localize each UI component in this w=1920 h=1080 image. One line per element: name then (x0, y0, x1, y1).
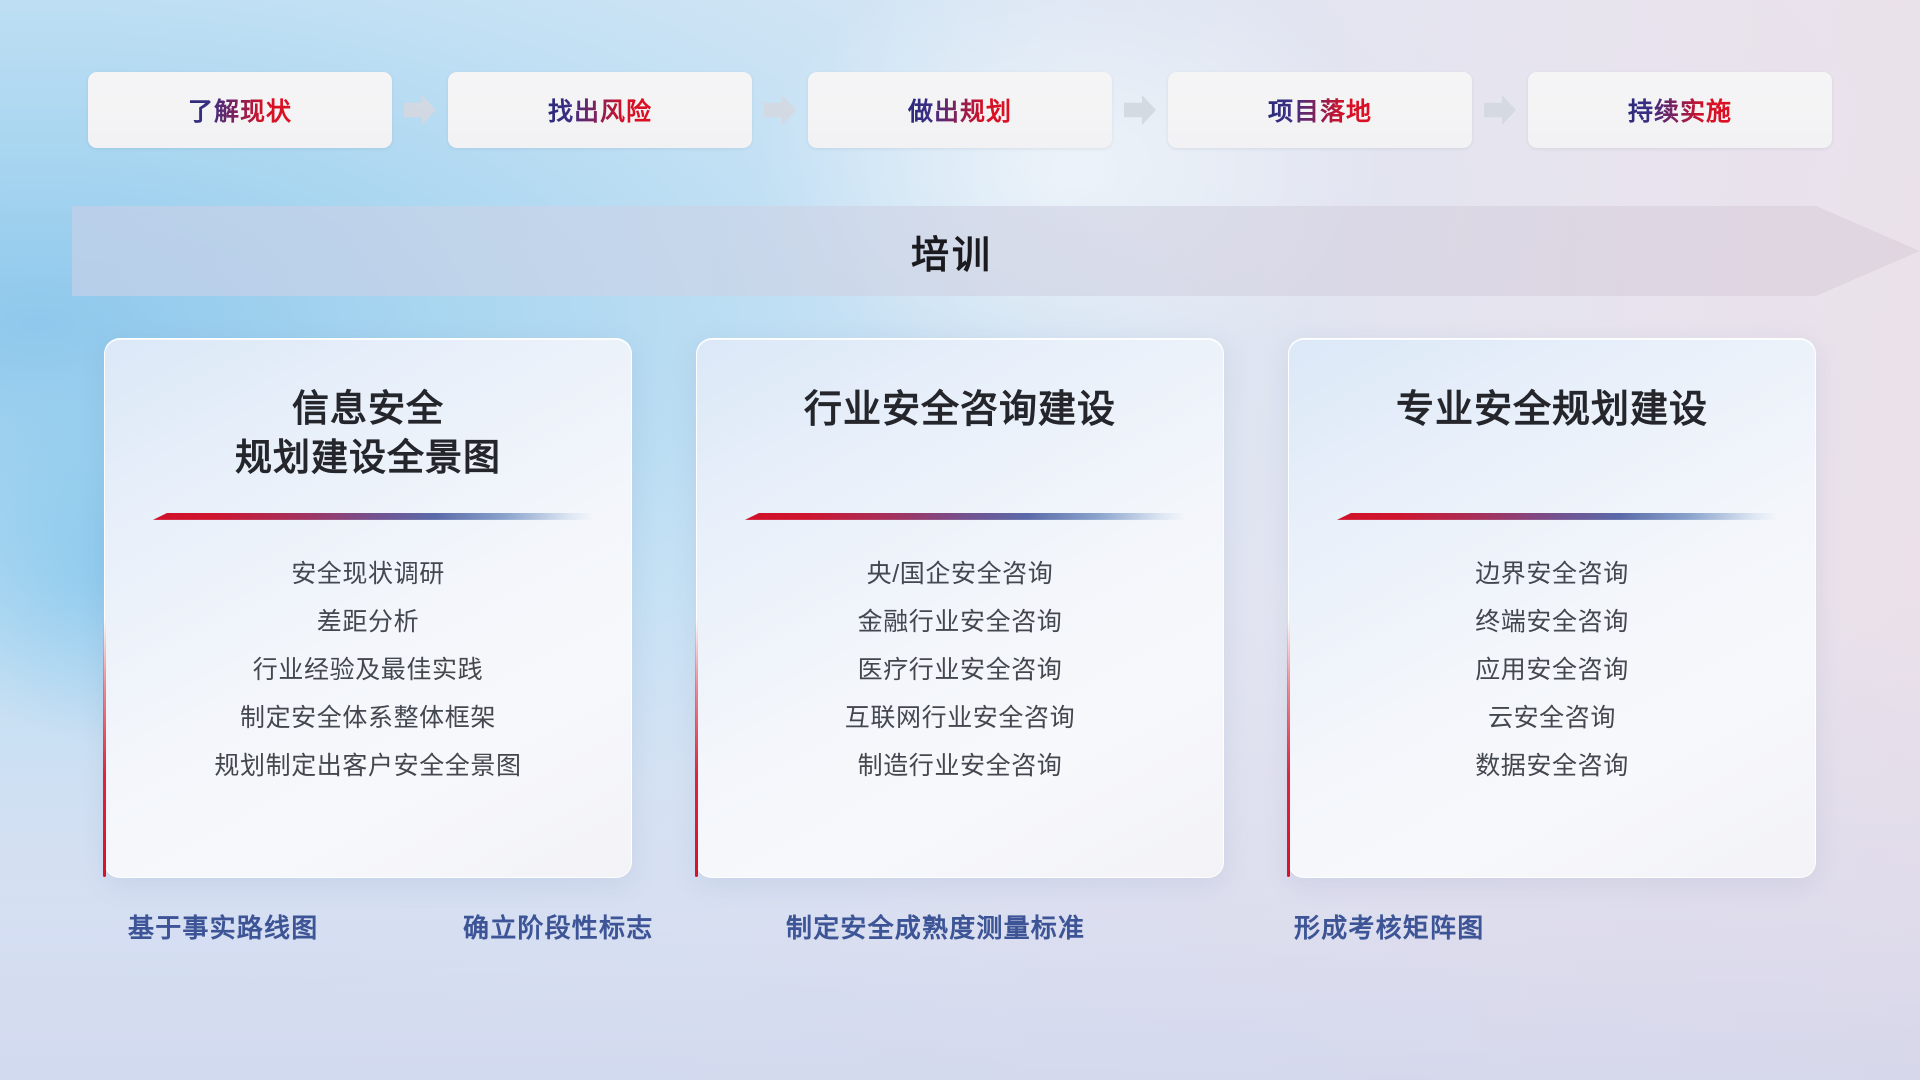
process-step-5-label: 持续实施 (1628, 92, 1732, 128)
capability-card-2[interactable]: 行业安全咨询建设 央/国企安全咨询 金融行业安全咨询 医疗行业安全咨询 互联网行… (696, 338, 1224, 878)
process-step-3-label: 做出规划 (908, 92, 1012, 128)
card-red-accent-edge (695, 619, 698, 877)
capability-card-3[interactable]: 专业安全规划建设 边界安全咨询 终端安全咨询 应用安全咨询 云安全咨询 数据安全… (1288, 338, 1816, 878)
process-step-3[interactable]: 做出规划 (808, 72, 1112, 148)
chevron-right-icon (1484, 95, 1516, 125)
card-gradient-divider (1337, 513, 1777, 524)
outcome-label-row: 基于事实路线图 确立阶段性标志 制定安全成熟度测量标准 形成考核矩阵图 (0, 908, 1920, 966)
list-item: 互联网行业安全咨询 (845, 701, 1075, 736)
process-step-1[interactable]: 了解现状 (88, 72, 392, 148)
card-title-line: 行业安全咨询建设 (723, 385, 1197, 435)
card-title-line: 信息安全 (131, 385, 605, 434)
training-arrow-band: 培训 (72, 206, 1920, 296)
capability-card-3-list: 边界安全咨询 终端安全咨询 应用安全咨询 云安全咨询 数据安全咨询 (1315, 557, 1789, 784)
outcome-label-1: 基于事实路线图 (128, 908, 318, 945)
capability-card-row: 信息安全 规划建设全景图 安全现状调研 差距分析 行业经验及最佳实践 制定安全体… (0, 338, 1920, 878)
list-item: 规划制定出客户安全全景图 (214, 749, 521, 784)
list-item: 云安全咨询 (1488, 701, 1616, 736)
process-arrow-3-wrap (1112, 72, 1168, 148)
process-step-2-label: 找出风险 (548, 92, 652, 128)
list-item: 行业经验及最佳实践 (253, 653, 483, 688)
process-arrow-2-wrap (752, 72, 808, 148)
card-divider-wrap (723, 501, 1197, 535)
chevron-right-icon (1124, 95, 1156, 125)
outcome-label-4: 形成考核矩阵图 (1294, 908, 1484, 945)
card-title-line: 专业安全规划建设 (1315, 385, 1789, 435)
training-band-label: 培训 (72, 206, 1832, 296)
list-item: 差距分析 (317, 605, 419, 640)
list-item: 央/国企安全咨询 (867, 557, 1054, 592)
process-step-5[interactable]: 持续实施 (1528, 72, 1832, 148)
chevron-right-icon (764, 95, 796, 125)
list-item: 边界安全咨询 (1475, 557, 1629, 592)
chevron-right-icon (404, 95, 436, 125)
process-step-4[interactable]: 项目落地 (1168, 72, 1472, 148)
outcome-label-2: 确立阶段性标志 (463, 908, 653, 945)
list-item: 金融行业安全咨询 (858, 605, 1063, 640)
capability-card-2-title: 行业安全咨询建设 (723, 385, 1197, 485)
process-step-2[interactable]: 找出风险 (448, 72, 752, 148)
capability-card-1[interactable]: 信息安全 规划建设全景图 安全现状调研 差距分析 行业经验及最佳实践 制定安全体… (104, 338, 632, 878)
process-step-4-label: 项目落地 (1268, 92, 1372, 128)
list-item: 数据安全咨询 (1475, 749, 1629, 784)
card-red-accent-edge (103, 619, 106, 877)
card-divider-wrap (1315, 501, 1789, 535)
card-divider-wrap (131, 501, 605, 535)
card-red-accent-edge (1287, 619, 1290, 877)
process-arrow-1-wrap (392, 72, 448, 148)
card-gradient-divider (153, 513, 593, 524)
process-step-row: 了解现状 找出风险 做出规划 项目落地 持续实施 (0, 72, 1920, 148)
card-title-line: 规划建设全景图 (131, 434, 605, 483)
process-arrow-4-wrap (1472, 72, 1528, 148)
outcome-label-3: 制定安全成熟度测量标准 (786, 908, 1085, 945)
card-gradient-divider (745, 513, 1185, 524)
capability-card-1-title: 信息安全 规划建设全景图 (131, 385, 605, 485)
list-item: 制定安全体系整体框架 (240, 701, 496, 736)
list-item: 应用安全咨询 (1475, 653, 1629, 688)
list-item: 制造行业安全咨询 (858, 749, 1063, 784)
capability-card-2-list: 央/国企安全咨询 金融行业安全咨询 医疗行业安全咨询 互联网行业安全咨询 制造行… (723, 557, 1197, 784)
capability-card-3-title: 专业安全规划建设 (1315, 385, 1789, 485)
list-item: 安全现状调研 (291, 557, 445, 592)
capability-card-1-list: 安全现状调研 差距分析 行业经验及最佳实践 制定安全体系整体框架 规划制定出客户… (131, 557, 605, 784)
list-item: 终端安全咨询 (1475, 605, 1629, 640)
list-item: 医疗行业安全咨询 (858, 653, 1063, 688)
process-step-1-label: 了解现状 (188, 92, 292, 128)
